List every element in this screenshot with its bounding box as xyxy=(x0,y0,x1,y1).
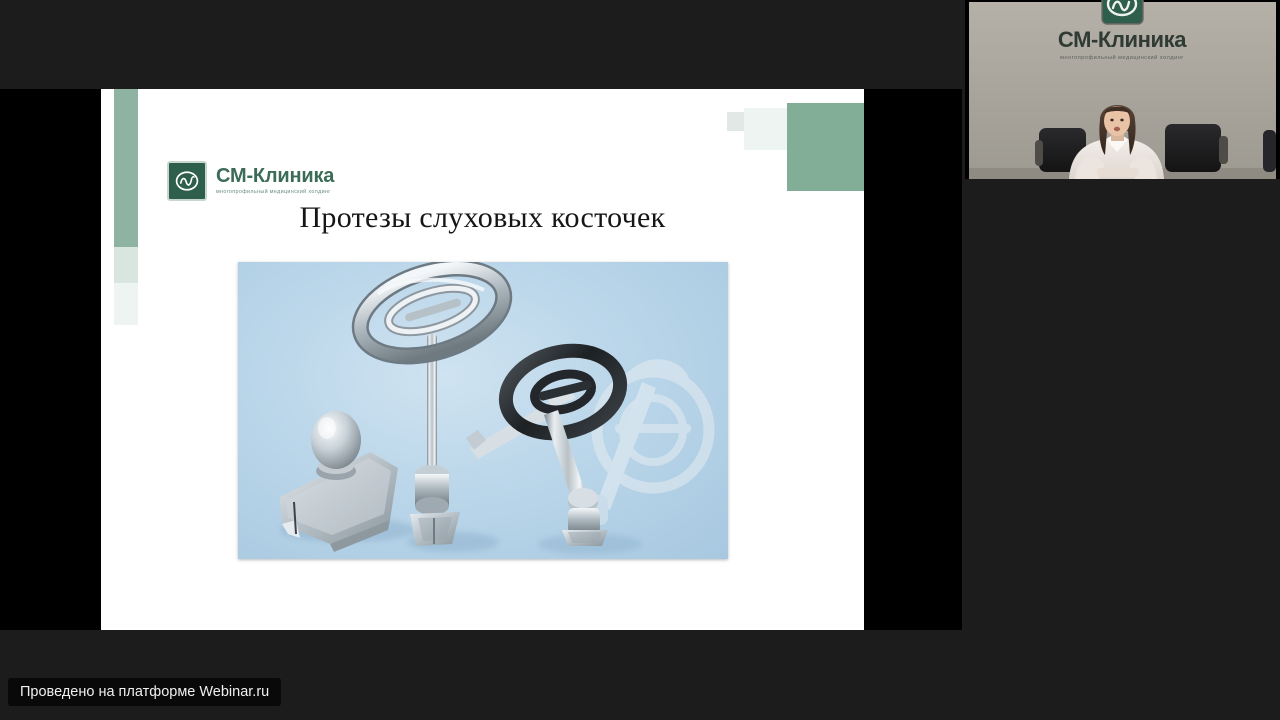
decoration-left-fade-1 xyxy=(114,247,138,283)
decoration-square-large xyxy=(787,103,864,191)
decoration-square-medium xyxy=(744,108,791,150)
webinar-player-page: { "player": { "platform_badge": "Проведе… xyxy=(0,0,1280,720)
cm-klinika-monogram-icon xyxy=(167,161,207,201)
brand-wordmark: СМ-Клиника многопрофильный медицинский х… xyxy=(216,166,334,196)
decoration-left-fade-2 xyxy=(114,283,138,325)
slide-canvas[interactable]: СМ-Клиника многопрофильный медицинский х… xyxy=(101,89,864,630)
brand-tagline: многопрофильный медицинский холдинг xyxy=(216,189,334,196)
brand-logo: СМ-Клиника многопрофильный медицинский х… xyxy=(167,161,334,201)
slide-title: Протезы слуховых косточек xyxy=(101,201,864,235)
ossicular-prosthesis-image xyxy=(238,262,728,559)
brand-name: СМ-Клиника xyxy=(216,166,334,187)
presenter-webcam[interactable]: СМ-Клиника многопрофильный медицинский х… xyxy=(965,0,1280,179)
platform-badge: Проведено на платформе Webinar.ru xyxy=(8,678,281,706)
svg-text:многопрофильный медицинский хо: многопрофильный медицинский холдинг xyxy=(1060,54,1184,61)
svg-text:СМ-Клиника: СМ-Клиника xyxy=(1058,27,1187,52)
